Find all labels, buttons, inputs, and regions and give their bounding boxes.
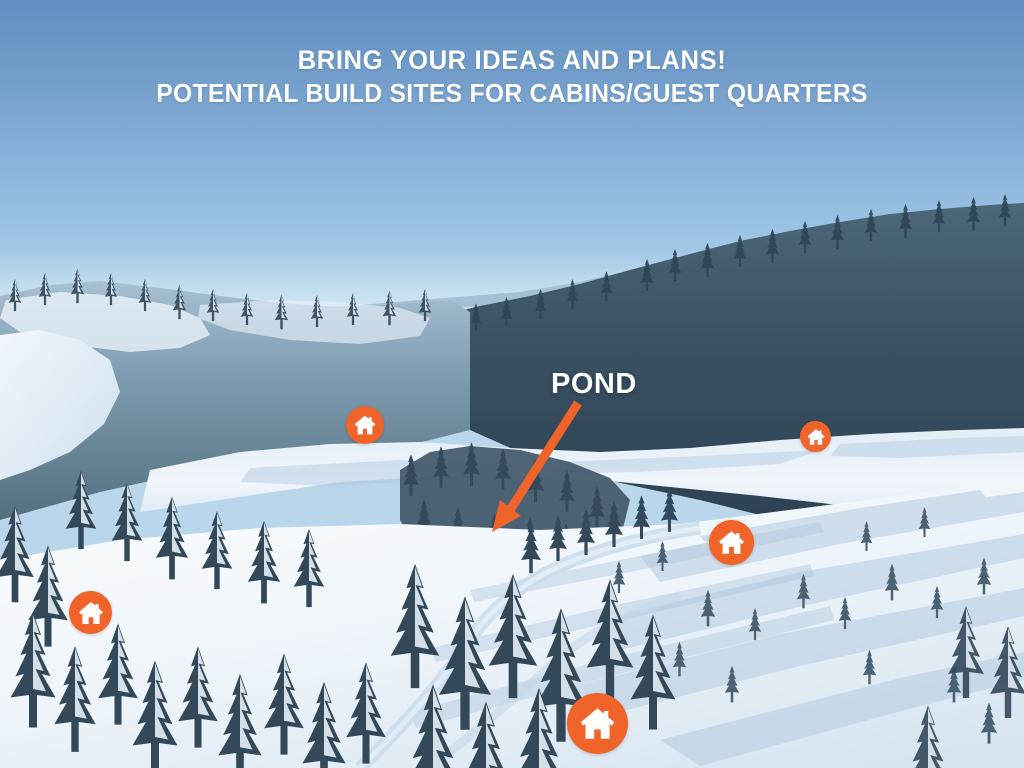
build-site-marker-3[interactable]: [709, 520, 754, 565]
listing-photo: BRING YOUR IDEAS AND PLANS! POTENTIAL BU…: [0, 0, 1024, 768]
build-site-marker-5[interactable]: [567, 693, 628, 754]
house-icon: [353, 413, 377, 437]
build-site-marker-2[interactable]: [800, 421, 831, 452]
house-icon: [578, 704, 617, 743]
house-icon: [717, 528, 746, 557]
winter-landscape: [0, 0, 1024, 768]
build-site-marker-1[interactable]: [346, 406, 384, 444]
house-icon: [806, 427, 826, 447]
house-icon: [77, 599, 105, 627]
build-site-marker-4[interactable]: [69, 591, 112, 634]
